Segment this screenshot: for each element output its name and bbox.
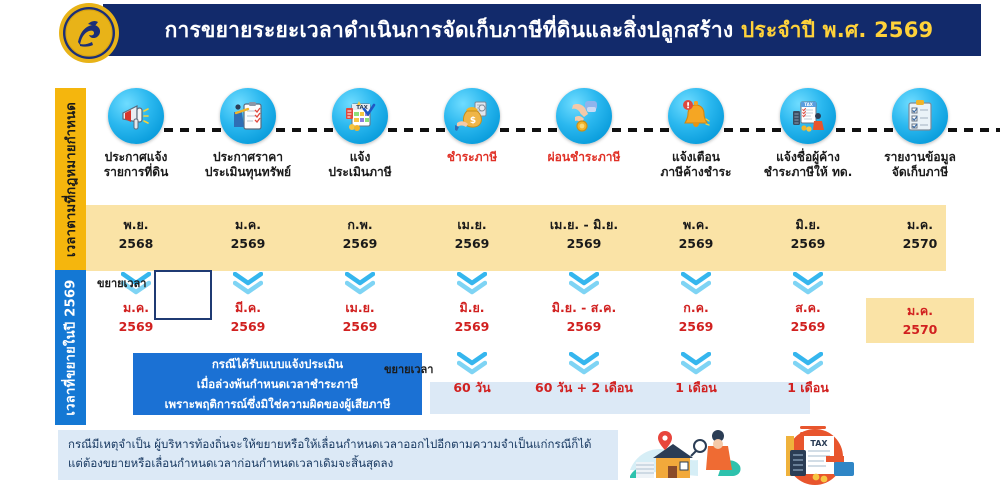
footer-note: กรณีมีเหตุจำเป็น ผู้บริหารท้องถิ่นจะให้ข… bbox=[58, 430, 618, 480]
side-label-extended-text: เวลาที่ขยายในปี 2569 bbox=[60, 279, 81, 415]
down-chevron-icon bbox=[793, 352, 823, 376]
svg-text:TAX: TAX bbox=[810, 439, 828, 448]
timeline-step-5: ผ่อนชำระภาษี bbox=[530, 88, 638, 165]
checklist-clipboard-icon bbox=[892, 88, 948, 144]
house-inspection-illustration bbox=[622, 424, 762, 486]
extended-date-month-4: มิ.ย. bbox=[418, 298, 526, 317]
extended-date-year-7: 2569 bbox=[754, 317, 862, 336]
down-chevron-icon bbox=[681, 272, 711, 296]
footer-note-line1: กรณีมีเหตุจำเป็น ผู้บริหารท้องถิ่นจะให้ข… bbox=[68, 435, 610, 454]
extended-date-month-5: มิ.ย. - ส.ค. bbox=[530, 298, 638, 317]
legal-date-year-1: 2568 bbox=[82, 234, 190, 253]
legal-date-year-7: 2569 bbox=[754, 234, 862, 253]
timeline-step-label-2: ประกาศราคาประเมินทุนทรัพย์ bbox=[194, 150, 302, 180]
timeline-step-label-1: ประกาศแจ้งรายการที่ดิน bbox=[82, 150, 190, 180]
legal-date-6: พ.ค. 2569 bbox=[642, 205, 750, 253]
extended-date-value-8: ม.ค. 2570 bbox=[866, 298, 974, 343]
duration-text-5: 60 วัน + 2 เดือน bbox=[530, 378, 638, 398]
timeline-step-8: รายงานข้อมูลจัดเก็บภาษี bbox=[866, 88, 974, 180]
extended-dates-row: ม.ค. 2569 มี.ค. 2569 เม.ย. 2569 มิ.ย. 25… bbox=[88, 272, 1000, 352]
money-bag-hand-icon: $ bbox=[444, 88, 500, 144]
legal-date-8: ม.ค. 2570 bbox=[866, 205, 974, 253]
legal-date-2: ม.ค. 2569 bbox=[194, 205, 302, 253]
extended-date-value-3: เม.ย. 2569 bbox=[306, 298, 414, 336]
duration-text-4: 60 วัน bbox=[418, 378, 526, 398]
ministry-of-interior-seal-icon bbox=[58, 2, 120, 64]
extended-date-year-5: 2569 bbox=[530, 317, 638, 336]
infographic-root: การขยายระยะเวลาดำเนินการจัดเก็บภาษีที่ดิ… bbox=[0, 0, 1000, 486]
tax-report-icon: TAX bbox=[780, 88, 836, 144]
extended-date-month-8: ม.ค. bbox=[866, 301, 974, 320]
extended-date-month-6: ก.ค. bbox=[642, 298, 750, 317]
extended-date-8: ม.ค. 2570 bbox=[866, 272, 974, 343]
page-title: การขยายระยะเวลาดำเนินการจัดเก็บภาษีที่ดิ… bbox=[103, 14, 981, 47]
timeline-step-3: TAX แจ้งประเมินภาษี bbox=[306, 88, 414, 180]
timeline-step-label-5: ผ่อนชำระภาษี bbox=[530, 150, 638, 165]
timeline-step-label-3: แจ้งประเมินภาษี bbox=[306, 150, 414, 180]
timeline-step-6: แจ้งเตือนภาษีค้างชำระ bbox=[642, 88, 750, 180]
timeline-step-label-4: ชำระภาษี bbox=[418, 150, 526, 165]
legal-date-1: พ.ย. 2568 bbox=[82, 205, 190, 253]
legal-date-5: เม.ย. - มิ.ย. 2569 bbox=[530, 205, 638, 253]
duration-text-7: 1 เดือน bbox=[754, 378, 862, 398]
tax-document-calculator-illustration: TAX bbox=[760, 424, 870, 486]
svg-text:TAX: TAX bbox=[804, 102, 813, 107]
legal-date-month-4: เม.ย. bbox=[418, 215, 526, 234]
extended-date-year-6: 2569 bbox=[642, 317, 750, 336]
duration-row: 60 วัน 60 วัน + 2 เดือน 1 เดือน 1 เดือน bbox=[88, 352, 1000, 414]
down-chevron-icon bbox=[233, 272, 263, 296]
duration-6: 1 เดือน bbox=[642, 352, 750, 398]
extended-date-value-7: ส.ค. 2569 bbox=[754, 298, 862, 336]
legal-date-month-2: ม.ค. bbox=[194, 215, 302, 234]
legal-date-month-7: มิ.ย. bbox=[754, 215, 862, 234]
down-chevron-icon bbox=[681, 352, 711, 376]
extended-date-value-6: ก.ค. 2569 bbox=[642, 298, 750, 336]
duration-4: 60 วัน bbox=[418, 352, 526, 398]
legal-date-year-4: 2569 bbox=[418, 234, 526, 253]
timeline-step-1: ประกาศแจ้งรายการที่ดิน bbox=[82, 88, 190, 180]
page-title-main: การขยายระยะเวลาดำเนินการจัดเก็บภาษีที่ดิ… bbox=[165, 18, 734, 42]
extended-date-year-8: 2570 bbox=[866, 320, 974, 339]
timeline-step-2: ประกาศราคาประเมินทุนทรัพย์ bbox=[194, 88, 302, 180]
duration-text-6: 1 เดือน bbox=[642, 378, 750, 398]
side-label-legal-text: เวลาตามที่กฎหมายกำหนด bbox=[60, 101, 81, 256]
down-chevron-icon bbox=[457, 352, 487, 376]
megaphone-icon bbox=[108, 88, 164, 144]
down-chevron-icon bbox=[345, 272, 375, 296]
timeline-step-label-7: แจ้งชื่อผู้ค้างชำระภาษีให้ ทด. bbox=[754, 150, 862, 180]
legal-date-month-3: ก.พ. bbox=[306, 215, 414, 234]
page-title-year: ประจำปี พ.ศ. 2569 bbox=[741, 18, 934, 42]
svg-text:$: $ bbox=[470, 116, 476, 126]
extended-date-year-3: 2569 bbox=[306, 317, 414, 336]
extended-date-7: ส.ค. 2569 bbox=[754, 272, 862, 336]
header-bar: การขยายระยะเวลาดำเนินการจัดเก็บภาษีที่ดิ… bbox=[103, 4, 981, 56]
duration-7: 1 เดือน bbox=[754, 352, 862, 398]
legal-date-month-1: พ.ย. bbox=[82, 215, 190, 234]
timeline-step-7: TAX แจ้งชื่อผู้ค้างชำระภาษีให้ ทด. bbox=[754, 88, 862, 180]
legal-date-7: มิ.ย. 2569 bbox=[754, 205, 862, 253]
tax-invoice-icon: TAX bbox=[332, 88, 388, 144]
legal-date-year-6: 2569 bbox=[642, 234, 750, 253]
extended-date-3: เม.ย. 2569 bbox=[306, 272, 414, 336]
down-chevron-icon bbox=[569, 352, 599, 376]
down-chevron-icon bbox=[793, 272, 823, 296]
legal-date-month-5: เม.ย. - มิ.ย. bbox=[530, 215, 638, 234]
timeline-step-label-6: แจ้งเตือนภาษีค้างชำระ bbox=[642, 150, 750, 180]
extended-date-4: มิ.ย. 2569 bbox=[418, 272, 526, 336]
extended-date-year-4: 2569 bbox=[418, 317, 526, 336]
extend-label-top: ขยายเวลา bbox=[97, 274, 146, 292]
extended-date-month-3: เม.ย. bbox=[306, 298, 414, 317]
svg-text:TAX: TAX bbox=[356, 105, 368, 111]
legal-dates-row: พ.ย. 2568ม.ค. 2569ก.พ. 2569เม.ย. 2569เม.… bbox=[88, 205, 1000, 271]
legal-date-month-6: พ.ค. bbox=[642, 215, 750, 234]
legal-date-year-2: 2569 bbox=[194, 234, 302, 253]
legal-date-year-5: 2569 bbox=[530, 234, 638, 253]
legal-date-4: เม.ย. 2569 bbox=[418, 205, 526, 253]
duration-5: 60 วัน + 2 เดือน bbox=[530, 352, 638, 398]
clipboard-person-icon bbox=[220, 88, 276, 144]
extended-date-month-7: ส.ค. bbox=[754, 298, 862, 317]
timeline-step-4: $ ชำระภาษี bbox=[418, 88, 526, 165]
coin-hand-icon bbox=[556, 88, 612, 144]
down-chevron-icon bbox=[457, 272, 487, 296]
footer-note-line2: แต่ต้องขยายหรือเลื่อนกำหนดเวลาก่อนกำหนดเ… bbox=[68, 454, 610, 473]
extended-date-5: มิ.ย. - ส.ค. 2569 bbox=[530, 272, 638, 336]
highlight-focus-box bbox=[154, 270, 212, 320]
timeline-icon-row: ประกาศแจ้งรายการที่ดิน ประกาศราคาประเมิน… bbox=[88, 88, 1000, 200]
legal-date-year-3: 2569 bbox=[306, 234, 414, 253]
timeline-step-label-8: รายงานข้อมูลจัดเก็บภาษี bbox=[866, 150, 974, 180]
down-chevron-icon bbox=[569, 272, 599, 296]
extended-date-value-4: มิ.ย. 2569 bbox=[418, 298, 526, 336]
legal-date-3: ก.พ. 2569 bbox=[306, 205, 414, 253]
legal-date-year-8: 2570 bbox=[866, 234, 974, 253]
extended-date-value-5: มิ.ย. - ส.ค. 2569 bbox=[530, 298, 638, 336]
legal-date-month-8: ม.ค. bbox=[866, 215, 974, 234]
extended-date-6: ก.ค. 2569 bbox=[642, 272, 750, 336]
bell-alert-icon bbox=[668, 88, 724, 144]
